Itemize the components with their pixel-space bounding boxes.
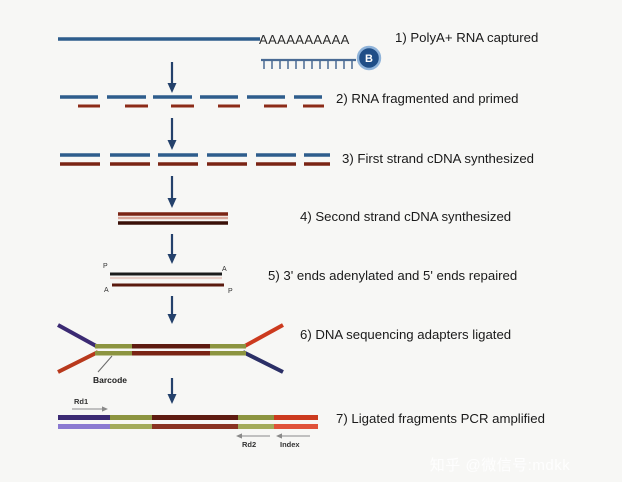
bead-letter-label: B xyxy=(365,53,373,65)
final-insert-top xyxy=(152,415,238,420)
left-barcode-bottom xyxy=(95,351,133,356)
final-p5-bottom xyxy=(58,424,110,429)
final-rd2-top xyxy=(238,415,274,420)
right-phosphate-label: P xyxy=(228,288,233,295)
step-4-label: 4) Second strand cDNA synthesized xyxy=(300,209,511,224)
step-1-label: 1) PolyA+ RNA captured xyxy=(395,30,538,45)
left-phosphate-label: P xyxy=(103,263,108,270)
step-6-label: 6) DNA sequencing adapters ligated xyxy=(300,327,511,342)
diagram-background xyxy=(0,0,622,482)
right-adenine-label: A xyxy=(222,266,227,273)
step-5-label: 5) 3' ends adenylated and 5' ends repair… xyxy=(268,268,517,283)
final-p5-top xyxy=(58,415,110,420)
insert-bottom-strand xyxy=(132,351,210,356)
read2-label: Rd2 xyxy=(242,440,256,449)
biotin-bead: B xyxy=(358,47,380,69)
rna-seq-library-prep-diagram: AAAAAAAAAA B 1) PolyA xyxy=(0,0,622,482)
final-index-bottom xyxy=(274,424,318,429)
polya-sequence-label: AAAAAAAAAA xyxy=(259,32,350,47)
step-3-label: 3) First strand cDNA synthesized xyxy=(342,151,534,166)
left-barcode-top xyxy=(95,344,133,349)
insert-top-strand xyxy=(132,344,210,349)
right-barcode-bottom xyxy=(208,351,246,356)
final-index-top xyxy=(274,415,318,420)
step-2-label: 2) RNA fragmented and primed xyxy=(336,91,519,106)
final-insert-bottom xyxy=(152,424,238,429)
watermark-text: 知乎 @微信号:mdkk xyxy=(430,457,570,474)
step-7-label: 7) Ligated fragments PCR amplified xyxy=(336,411,545,426)
final-rd2-bottom xyxy=(238,424,274,429)
final-rd1-bottom xyxy=(110,424,152,429)
right-barcode-top xyxy=(208,344,246,349)
left-adenine-label: A xyxy=(104,287,109,294)
barcode-label: Barcode xyxy=(93,375,127,385)
final-rd1-top xyxy=(110,415,152,420)
read1-label: Rd1 xyxy=(74,397,88,406)
index-label: Index xyxy=(280,440,300,449)
